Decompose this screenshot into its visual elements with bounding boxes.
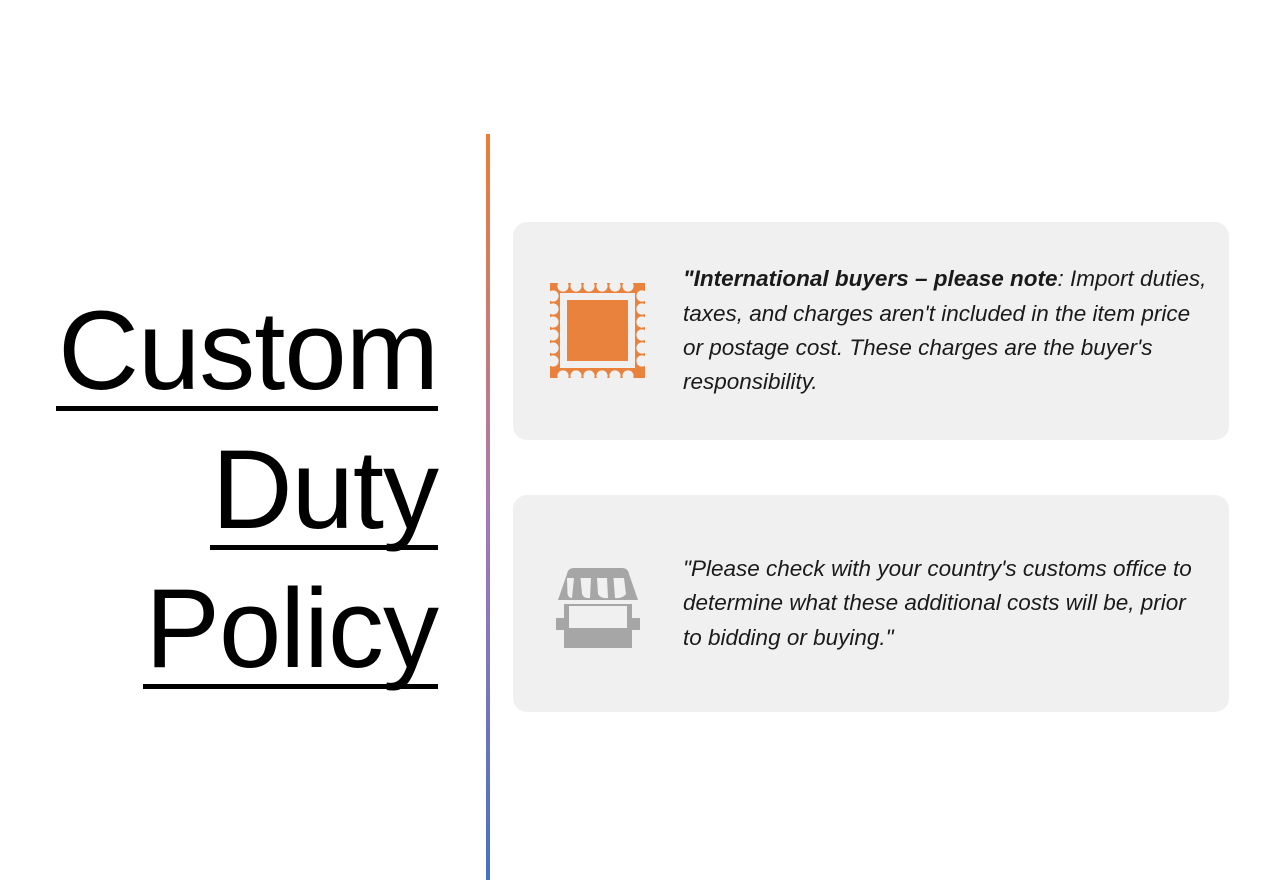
title-line-2: Duty [36,419,438,550]
page-title: Custom Duty Policy [36,280,438,689]
title-line-3: Policy [36,558,438,689]
postage-stamp-icon [513,283,683,379]
title-line-3-text: Policy [145,566,438,691]
info-card-international-buyers: "International buyers – please note: Imp… [513,222,1229,440]
info-card-customs-office: "Please check with your country's custom… [513,495,1229,712]
title-line-1: Custom [36,280,438,411]
card-2-text-rest: "Please check with your country's custom… [683,556,1192,650]
card-1-text-bold: "International buyers – please note [683,266,1058,291]
vertical-gradient-divider [486,134,490,880]
card-1-text: "International buyers – please note: Imp… [683,262,1229,399]
storefront-icon [513,556,683,652]
title-line-1-text: Custom [58,288,438,413]
title-line-2-text: Duty [212,427,438,552]
card-2-text: "Please check with your country's custom… [683,552,1229,655]
